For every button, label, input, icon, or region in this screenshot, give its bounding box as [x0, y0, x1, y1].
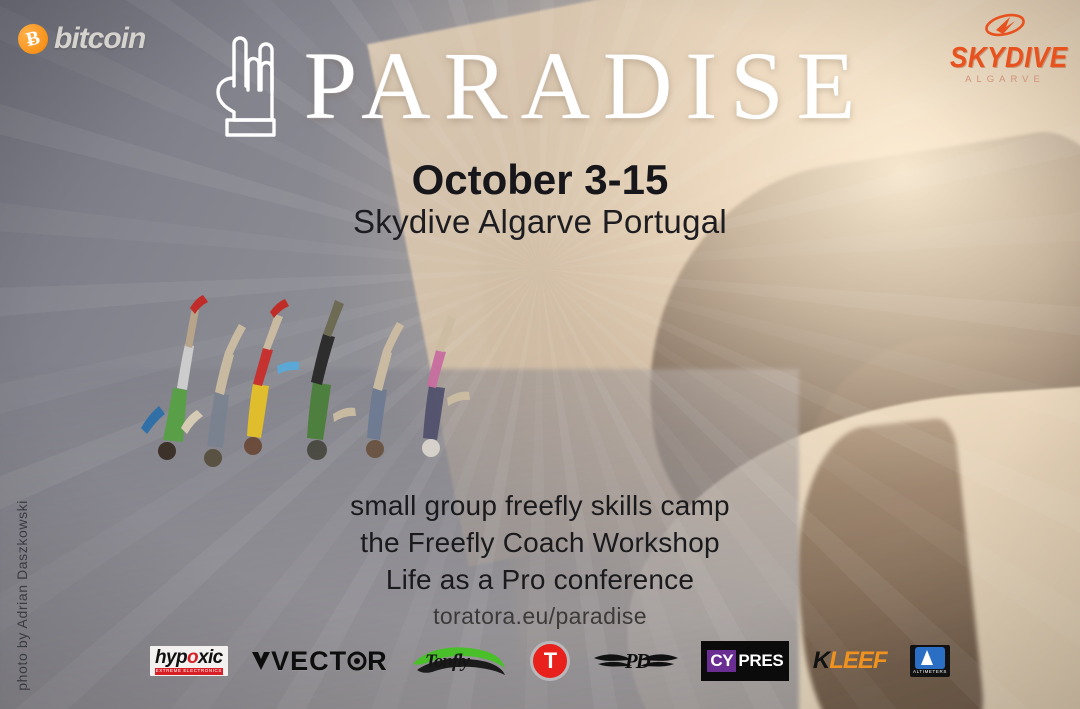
- event-url[interactable]: toratora.eu/paradise: [0, 603, 1080, 630]
- poster: Ƀ bitcoin SKYDIVE ALGARVE PARADISE: [0, 0, 1080, 709]
- description-line: Life as a Pro conference: [0, 562, 1080, 599]
- cypres-wordmark-b: PRES: [736, 651, 783, 671]
- sponsor-logo-row: hypoxic EXTREME ELECTRONICS VECT R Tonfl…: [150, 641, 950, 681]
- sponsor-tonfly: Tonfly: [411, 644, 507, 678]
- event-date: October 3-15: [0, 158, 1080, 202]
- sponsor-cypres: CY PRES: [701, 641, 789, 681]
- sponsor-performance-designs: PD: [594, 646, 678, 676]
- tonfly-t-letter: T: [544, 650, 557, 672]
- sponsor-hypoxic: hypoxic EXTREME ELECTRONICS: [150, 644, 228, 678]
- event-dates-block: October 3-15 Skydive Algarve Portugal: [0, 158, 1080, 240]
- alti2-triangle-icon: [915, 647, 945, 669]
- tonfly-t-icon: T: [530, 641, 570, 681]
- event-location: Skydive Algarve Portugal: [0, 204, 1080, 240]
- title-row: PARADISE: [0, 34, 1080, 138]
- kleef-wordmark-a: K: [813, 649, 829, 673]
- sponsor-tonfly-badge: T: [530, 644, 570, 678]
- skydiver: [307, 300, 356, 460]
- cypres-wordmark-a: CY: [707, 650, 736, 672]
- description-line: small group freefly skills camp: [0, 488, 1080, 525]
- vector-ring-icon: [347, 651, 367, 671]
- vector-wordmark: VECT: [271, 646, 347, 677]
- vector-wordmark-tail: R: [367, 646, 388, 677]
- page-title: PARADISE: [298, 38, 869, 134]
- sponsor-alti2: ALTIMETERS: [910, 644, 950, 678]
- sponsor-kleef: KLEEF: [813, 644, 887, 678]
- description-line: the Freefly Coach Workshop: [0, 525, 1080, 562]
- alti2-wordmark: ALTIMETERS: [913, 670, 947, 675]
- hypoxic-tagline: EXTREME ELECTRONICS: [155, 668, 223, 675]
- tonfly-wordmark: Tonfly: [425, 651, 469, 673]
- vector-chevron-icon: [251, 650, 271, 672]
- rock-horns-hand-icon: [212, 34, 282, 138]
- kleef-wordmark-b: LEEF: [829, 649, 886, 673]
- skydiver: [422, 316, 470, 457]
- skydiver: [244, 299, 299, 455]
- photo-credit: photo by Adrian Daszkowski: [14, 500, 30, 691]
- skydiver: [366, 322, 404, 458]
- event-description-block: small group freefly skills camp the Free…: [0, 488, 1080, 630]
- sponsor-vector: VECT R: [251, 644, 388, 678]
- pd-wordmark: PD: [625, 649, 649, 674]
- skydiver: [141, 295, 208, 460]
- hypoxic-wordmark: hypoxic: [155, 648, 223, 667]
- skydivers-formation: [135, 288, 485, 468]
